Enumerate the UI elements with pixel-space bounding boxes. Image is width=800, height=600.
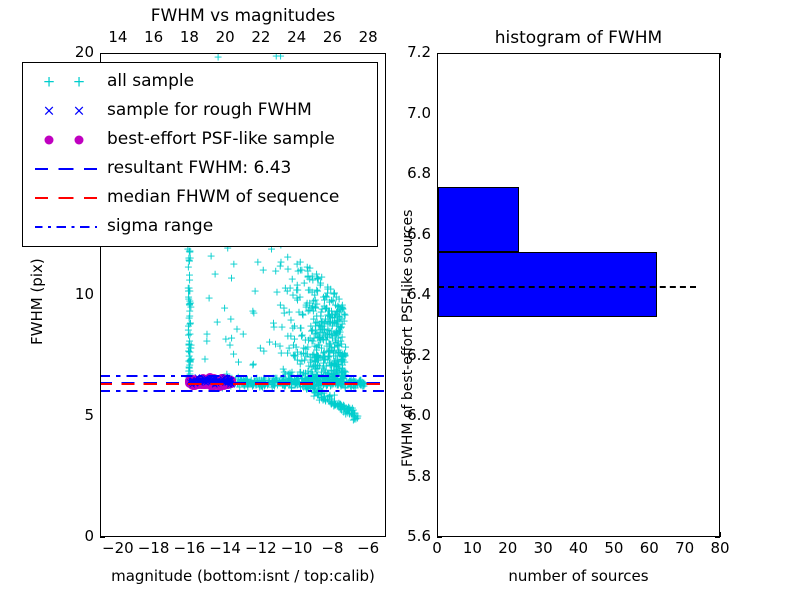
scatter-point: +: [304, 379, 313, 390]
scatter-point: +: [353, 380, 362, 391]
scatter-point: +: [325, 392, 334, 403]
scatter-point: +: [250, 377, 259, 388]
scatter-point: +: [305, 274, 314, 285]
scatter-point: +: [250, 376, 259, 387]
scatter-point: +: [321, 395, 330, 406]
scatter-point: +: [359, 381, 368, 392]
scatter-point: ×: [224, 374, 232, 384]
legend-label-3: resultant FWHM: 6.43: [107, 154, 291, 183]
tick-label-rx-2: 20: [488, 539, 528, 557]
scatter-point: +: [303, 379, 312, 390]
scatter-point: ×: [193, 373, 201, 383]
scatter-point: +: [301, 350, 310, 361]
scatter-point: +: [323, 281, 332, 292]
scatter-point: ×: [223, 378, 231, 388]
scatter-point: +: [295, 378, 304, 389]
figure-canvas: FWHM vs magnitudes 1416182022242628 −20−…: [0, 0, 800, 600]
scatter-point: +: [283, 252, 292, 263]
scatter-point: ×: [223, 379, 231, 389]
legend-box[interactable]: ++all sample××sample for rough FWHMbest-…: [22, 62, 378, 247]
scatter-point: +: [353, 380, 362, 391]
scatter-point: +: [325, 360, 334, 371]
scatter-point: ×: [188, 377, 196, 387]
scatter-point: +: [184, 371, 193, 382]
scatter-point: +: [308, 271, 317, 282]
scatter-point: +: [339, 365, 348, 376]
legend-entry-2[interactable]: best-effort PSF-like sample: [23, 125, 377, 154]
scatter-point: ×: [187, 379, 195, 389]
scatter-point: [209, 374, 219, 384]
scatter-point: +: [312, 299, 321, 310]
scatter-point: +: [311, 364, 320, 375]
scatter-point: +: [216, 377, 225, 388]
scatter-point: +: [278, 377, 287, 388]
scatter-point: +: [335, 306, 344, 317]
scatter-point: +: [323, 315, 332, 326]
scatter-point: +: [336, 373, 345, 384]
scatter-point: +: [319, 378, 328, 389]
scatter-point: +: [280, 367, 289, 378]
scatter-point: +: [269, 372, 278, 383]
scatter-point: +: [311, 318, 320, 329]
legend-marker-cross: ××: [31, 96, 101, 125]
scatter-point: +: [337, 321, 346, 332]
scatter-point: +: [274, 375, 283, 386]
legend-entry-3[interactable]: resultant FWHM: 6.43: [23, 154, 377, 183]
scatter-point: +: [260, 374, 269, 385]
scatter-point: [206, 377, 216, 387]
scatter-point: +: [330, 398, 339, 409]
scatter-point: +: [311, 325, 320, 336]
scatter-point: +: [304, 361, 313, 372]
scatter-point: +: [345, 376, 354, 387]
scatter-point: +: [319, 388, 328, 399]
scatter-point: ×: [221, 378, 229, 388]
scatter-point: +: [225, 378, 234, 389]
scatter-point: +: [290, 375, 299, 386]
scatter-point: ×: [208, 376, 216, 386]
scatter-point: +: [207, 251, 216, 262]
scatter-point: +: [323, 319, 332, 330]
scatter-point: +: [270, 376, 279, 387]
scatter-point: +: [260, 380, 269, 391]
scatter-point: [191, 379, 201, 389]
scatter-point: +: [349, 381, 358, 392]
scatter-point: +: [291, 376, 300, 387]
scatter-point: +: [261, 378, 270, 389]
scatter-point: +: [331, 378, 340, 389]
scatter-point: +: [320, 351, 329, 362]
scatter-point: +: [184, 340, 193, 351]
scatter-point: +: [319, 394, 328, 405]
scatter-point: +: [215, 377, 224, 388]
scatter-point: [223, 377, 233, 387]
scatter-point: +: [335, 364, 344, 375]
scatter-point: +: [296, 359, 305, 370]
scatter-point: +: [331, 351, 340, 362]
scatter-point: +: [270, 376, 279, 387]
scatter-point: +: [309, 348, 318, 359]
scatter-point: ×: [201, 376, 209, 386]
scatter-point: [196, 379, 206, 389]
scatter-point: +: [333, 315, 342, 326]
scatter-point: +: [320, 391, 329, 402]
scatter-point: +: [224, 376, 233, 387]
scatter-point: +: [344, 378, 353, 389]
scatter-point: +: [312, 373, 321, 384]
scatter-point: +: [310, 351, 319, 362]
scatter-point: +: [258, 376, 267, 387]
scatter-point: [226, 376, 236, 386]
scatter-point: +: [290, 333, 299, 344]
scatter-point: +: [323, 375, 332, 386]
scatter-point: +: [333, 300, 342, 311]
scatter-point: +: [275, 376, 284, 387]
scatter-point: +: [327, 357, 336, 368]
scatter-point: +: [341, 369, 350, 380]
right-yaxis-label: FWHM of best-effort PSF-like sources: [400, 210, 416, 467]
scatter-point: +: [185, 270, 194, 281]
scatter-point: +: [297, 356, 306, 367]
tick-label-rx-1: 10: [452, 539, 492, 557]
scatter-point: [188, 380, 198, 390]
tick-label-y-3: 20: [56, 43, 94, 61]
scatter-point: +: [326, 396, 335, 407]
scatter-point: +: [315, 384, 324, 395]
scatter-point: +: [314, 351, 323, 362]
scatter-point: +: [337, 332, 346, 343]
scatter-point: +: [334, 378, 343, 389]
scatter-point: [215, 375, 225, 385]
legend-glyph: ×: [43, 103, 56, 118]
scatter-point: +: [319, 377, 328, 388]
scatter-point: +: [185, 379, 194, 390]
histogram-bars-layer: [438, 54, 719, 536]
scatter-point: ×: [211, 377, 219, 387]
scatter-point: +: [301, 375, 310, 386]
scatter-point: +: [327, 376, 336, 387]
scatter-point: +: [337, 373, 346, 384]
scatter-point: +: [355, 375, 364, 386]
scatter-point: +: [306, 381, 315, 392]
scatter-point: ×: [213, 378, 221, 388]
scatter-point: +: [360, 378, 369, 389]
scatter-point: +: [269, 380, 278, 391]
scatter-point: +: [345, 376, 354, 387]
scatter-point: ×: [207, 378, 215, 388]
scatter-point: +: [292, 372, 301, 383]
scatter-point: ×: [212, 378, 220, 388]
scatter-point: +: [322, 292, 331, 303]
scatter-point: +: [288, 273, 297, 284]
histogram-plot-area[interactable]: [437, 53, 720, 537]
scatter-point: +: [258, 382, 267, 393]
scatter-point: [208, 379, 218, 389]
scatter-point: +: [341, 366, 350, 377]
scatter-point: ×: [203, 376, 211, 386]
scatter-point: +: [261, 379, 270, 390]
scatter-point: +: [185, 246, 194, 257]
scatter-point: ×: [201, 375, 209, 385]
scatter-point: +: [272, 54, 281, 62]
scatter-point: +: [329, 371, 338, 382]
scatter-point: ×: [213, 378, 221, 388]
scatter-point: +: [226, 380, 235, 391]
scatter-point: +: [186, 356, 195, 367]
scatter-point: [199, 379, 209, 389]
scatter-point: +: [320, 364, 329, 375]
scatter-point: +: [338, 299, 347, 310]
scatter-point: +: [321, 354, 330, 365]
scatter-point: +: [338, 370, 347, 381]
scatter-point: +: [185, 274, 194, 285]
scatter-point: +: [305, 333, 314, 344]
scatter-point: +: [325, 390, 334, 401]
scatter-point: +: [339, 372, 348, 383]
scatter-point: +: [317, 321, 326, 332]
scatter-point: +: [317, 315, 326, 326]
scatter-point: +: [228, 378, 237, 389]
scatter-point: +: [259, 374, 268, 385]
legend-label-0: all sample: [107, 67, 194, 96]
scatter-point: [188, 375, 198, 385]
scatter-point: +: [302, 383, 311, 394]
scatter-point: +: [350, 379, 359, 390]
scatter-point: +: [314, 371, 323, 382]
scatter-point: +: [320, 317, 329, 328]
scatter-point: [226, 378, 236, 388]
scatter-point: +: [347, 408, 356, 419]
scatter-point: ×: [195, 377, 203, 387]
scatter-point: ×: [185, 378, 193, 388]
scatter-point: +: [328, 313, 337, 324]
scatter-point: +: [345, 408, 354, 419]
scatter-point: +: [320, 354, 329, 365]
scatter-point: +: [284, 374, 293, 385]
legend-entry-4[interactable]: median FHWM of sequence: [23, 183, 377, 212]
scatter-point: +: [202, 377, 211, 388]
scatter-point: +: [336, 378, 345, 389]
scatter-point: ×: [214, 376, 222, 386]
scatter-point: +: [329, 351, 338, 362]
scatter-point: [201, 377, 211, 387]
scatter-point: +: [322, 377, 331, 388]
scatter-point: +: [313, 387, 322, 398]
scatter-point: +: [222, 369, 231, 380]
scatter-point: +: [336, 322, 345, 333]
scatter-point: +: [216, 377, 225, 388]
scatter-point: ×: [220, 377, 228, 387]
scatter-point: ×: [200, 378, 208, 388]
scatter-point: +: [275, 340, 284, 351]
scatter-point: +: [281, 368, 290, 379]
left-panel-title: FWHM vs magnitudes: [100, 6, 386, 26]
scatter-point: +: [312, 352, 321, 363]
scatter-point: +: [224, 379, 233, 390]
scatter-point: [207, 378, 217, 388]
scatter-point: +: [210, 375, 219, 386]
scatter-point: +: [316, 333, 325, 344]
scatter-point: +: [229, 348, 238, 359]
scatter-point: +: [310, 364, 319, 375]
scatter-point: +: [325, 311, 334, 322]
scatter-point: +: [325, 345, 334, 356]
scatter-point: +: [306, 367, 315, 378]
scatter-point: [206, 376, 216, 386]
scatter-point: +: [184, 282, 193, 293]
scatter-point: +: [301, 343, 310, 354]
scatter-point: +: [345, 403, 354, 414]
scatter-point: +: [305, 298, 314, 309]
scatter-point: [204, 378, 214, 388]
scatter-point: +: [337, 379, 346, 390]
scatter-point: +: [340, 348, 349, 359]
scatter-point: +: [287, 382, 296, 393]
scatter-point: +: [313, 285, 322, 296]
scatter-point: +: [315, 376, 324, 387]
legend-entry-5[interactable]: sigma range: [23, 212, 377, 241]
scatter-point: +: [279, 364, 288, 375]
scatter-point: +: [336, 347, 345, 358]
scatter-point: +: [281, 282, 290, 293]
scatter-point: +: [302, 298, 311, 309]
scatter-point: +: [325, 351, 334, 362]
scatter-point: ×: [190, 378, 198, 388]
scatter-point: [210, 379, 220, 389]
scatter-point: +: [249, 307, 258, 318]
scatter-point: ×: [227, 379, 235, 389]
scatter-point: ×: [196, 377, 204, 387]
scatter-point: +: [204, 378, 213, 389]
scatter-point: +: [184, 346, 193, 357]
scatter-point: +: [318, 386, 327, 397]
scatter-point: +: [331, 367, 340, 378]
scatter-point: [218, 377, 228, 387]
histogram-bar[interactable]: [438, 252, 657, 317]
legend-entry-1[interactable]: ××sample for rough FWHM: [23, 96, 377, 125]
scatter-point: +: [312, 374, 321, 385]
scatter-point: +: [263, 379, 272, 390]
scatter-point: +: [333, 367, 342, 378]
scatter-point: +: [330, 356, 339, 367]
scatter-point: +: [185, 376, 194, 387]
scatter-point: +: [330, 313, 339, 324]
scatter-point: [206, 379, 216, 389]
scatter-point: [201, 379, 211, 389]
scatter-point: [193, 379, 203, 389]
scatter-point: +: [252, 380, 261, 391]
scatter-point: +: [302, 379, 311, 390]
scatter-point: +: [221, 376, 230, 387]
scatter-point: +: [296, 322, 305, 333]
tick-label-bottom-7: −6: [348, 539, 388, 557]
scatter-point: +: [246, 377, 255, 388]
scatter-point: +: [347, 405, 356, 416]
scatter-point: +: [230, 378, 239, 389]
scatter-point: [194, 379, 204, 389]
scatter-point: +: [322, 332, 331, 343]
scatter-point: [212, 379, 222, 389]
scatter-point: +: [246, 378, 255, 389]
scatter-point: +: [327, 360, 336, 371]
scatter-point: +: [329, 369, 338, 380]
scatter-point: +: [317, 271, 326, 282]
scatter-point: +: [320, 374, 329, 385]
scatter-point: ×: [211, 375, 219, 385]
scatter-point: +: [337, 350, 346, 361]
legend-marker-dashed: [31, 183, 101, 212]
scatter-point: +: [271, 372, 280, 383]
scatter-point: +: [320, 295, 329, 306]
scatter-point: +: [314, 319, 323, 330]
scatter-point: +: [335, 327, 344, 338]
scatter-point: +: [321, 367, 330, 378]
scatter-point: +: [338, 374, 347, 385]
scatter-point: +: [342, 377, 351, 388]
scatter-point: +: [330, 398, 339, 409]
scatter-point: +: [280, 308, 289, 319]
scatter-point: +: [253, 257, 262, 268]
scatter-point: +: [284, 376, 293, 387]
scatter-point: +: [220, 374, 229, 385]
legend-entry-0[interactable]: ++all sample: [23, 67, 377, 96]
scatter-point: [201, 378, 211, 388]
scatter-point: ×: [210, 376, 218, 386]
scatter-point: +: [325, 346, 334, 357]
scatter-point: +: [298, 380, 307, 391]
scatter-point: +: [325, 391, 334, 402]
scatter-point: +: [275, 377, 284, 388]
scatter-point: +: [277, 375, 286, 386]
scatter-point: +: [323, 379, 332, 390]
scatter-point: +: [344, 402, 353, 413]
scatter-point: +: [303, 262, 312, 273]
scatter-point: +: [242, 377, 251, 388]
scatter-point: +: [292, 285, 301, 296]
scatter-point: +: [316, 335, 325, 346]
scatter-point: +: [302, 379, 311, 390]
scatter-point: +: [308, 368, 317, 379]
scatter-point: [193, 377, 203, 387]
scatter-point: +: [287, 367, 296, 378]
scatter-point: +: [326, 381, 335, 392]
scatter-point: +: [317, 342, 326, 353]
scatter-point: [226, 378, 236, 388]
scatter-point: +: [276, 378, 285, 389]
scatter-point: +: [264, 378, 273, 389]
scatter-point: +: [334, 401, 343, 412]
scatter-point: ×: [220, 378, 228, 388]
scatter-point: +: [334, 293, 343, 304]
scatter-point: +: [311, 303, 320, 314]
tick-label-top-4: 22: [247, 28, 275, 46]
scatter-point: +: [330, 390, 339, 401]
scatter-point: +: [330, 288, 339, 299]
scatter-point: [217, 374, 227, 384]
scatter-point: [210, 378, 220, 388]
scatter-point: +: [259, 378, 268, 389]
scatter-point: +: [315, 326, 324, 337]
scatter-point: +: [341, 342, 350, 353]
scatter-point: +: [282, 377, 291, 388]
scatter-point: +: [324, 351, 333, 362]
scatter-point: +: [293, 280, 302, 291]
scatter-point: [189, 378, 199, 388]
scatter-point: +: [350, 413, 359, 424]
scatter-point: +: [225, 340, 234, 351]
histogram-bar[interactable]: [438, 187, 519, 252]
scatter-point: [223, 376, 233, 386]
